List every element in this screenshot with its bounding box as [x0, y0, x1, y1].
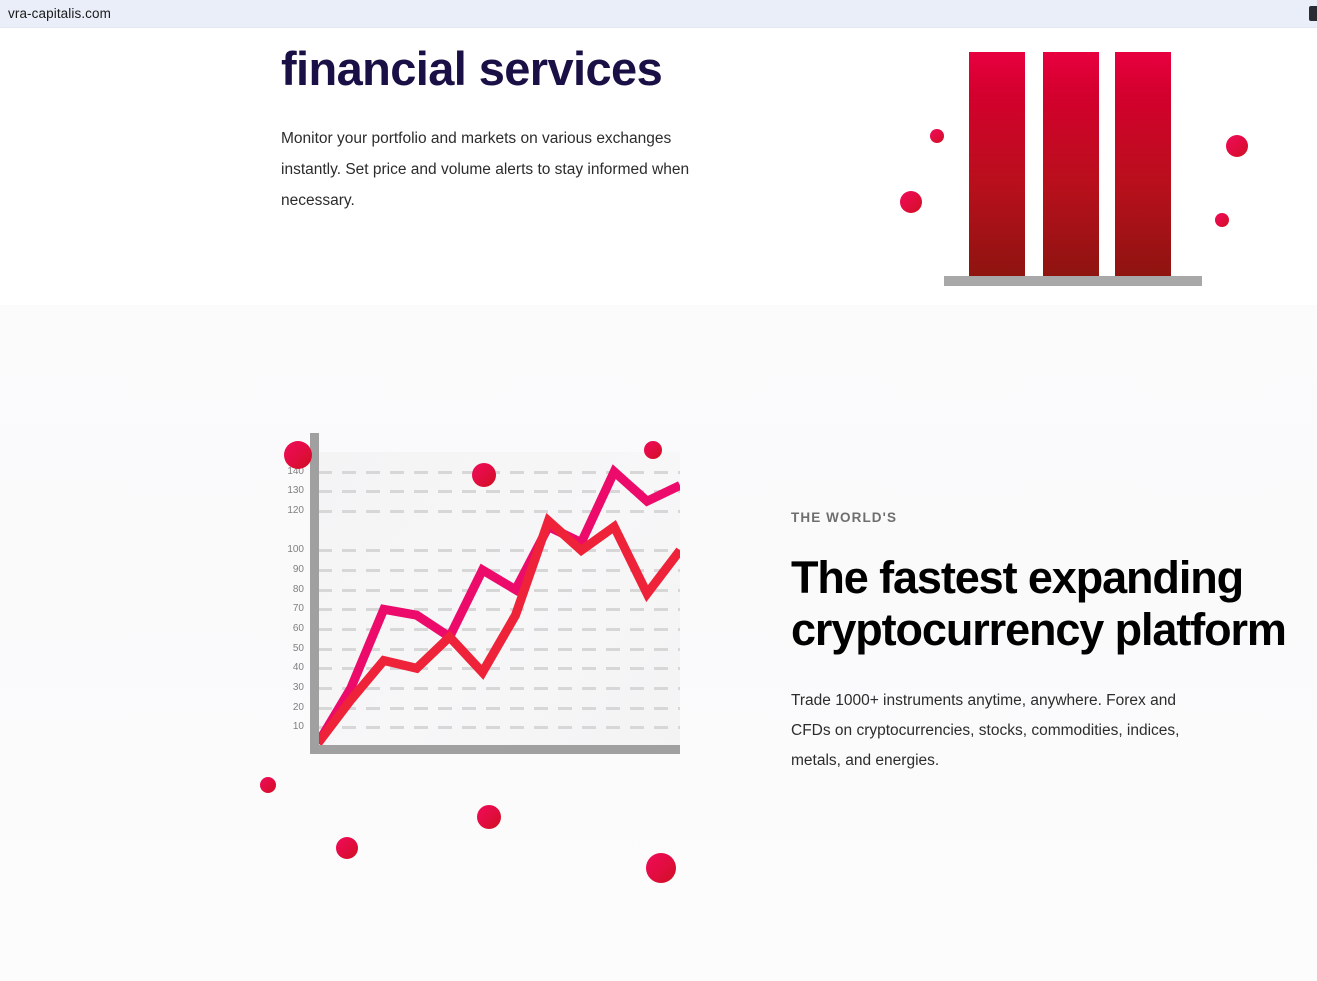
chart-y-tick-label: 80 — [274, 585, 304, 595]
bar-chart-illustration — [890, 28, 1260, 305]
browser-bar-right — [1309, 6, 1317, 21]
decorative-dot — [477, 805, 501, 829]
decorative-dot — [472, 463, 496, 487]
decorative-dot — [646, 853, 676, 883]
decorative-dot — [900, 191, 922, 213]
section-one-body: Monitor your portfolio and markets on va… — [281, 123, 691, 216]
chart-x-axis — [310, 745, 680, 754]
chart-series-svg — [318, 452, 680, 752]
section-two-body: Trade 1000+ instruments anytime, anywher… — [791, 686, 1191, 776]
browser-address-bar[interactable]: vra-capitalis.com — [0, 0, 1317, 28]
section-two-eyebrow: THE WORLD'S — [791, 510, 1311, 525]
chart-y-tick-label: 60 — [274, 624, 304, 634]
decorative-dot — [336, 837, 358, 859]
chart-y-tick-label: 10 — [274, 722, 304, 732]
page-root: vra-capitalis.com financial services Mon… — [0, 0, 1317, 981]
chart-y-tick-label: 70 — [274, 604, 304, 614]
illustration-baseline — [944, 276, 1202, 286]
chart-y-tick-label: 130 — [274, 486, 304, 496]
chart-y-tick-label: 90 — [274, 565, 304, 575]
decorative-dot — [930, 129, 944, 143]
decorative-dot — [284, 441, 312, 469]
section-two-heading: The fastest expanding cryptocurrency pla… — [791, 552, 1311, 656]
chart-y-axis — [310, 433, 319, 753]
decorative-dot — [1215, 213, 1229, 227]
url-text[interactable]: vra-capitalis.com — [0, 6, 111, 21]
chart-y-tick-label: 120 — [274, 506, 304, 516]
chart-line-magenta-line — [318, 472, 680, 743]
panel-edge-icon[interactable] — [1309, 6, 1317, 21]
section-financial-services: financial services Monitor your portfoli… — [0, 28, 1317, 305]
decorative-dot — [644, 441, 662, 459]
section-crypto-platform: 140130120100908070605040302010 THE WORLD… — [0, 305, 1317, 981]
chart-y-tick-label: 30 — [274, 683, 304, 693]
section-one-heading: financial services — [281, 44, 881, 93]
illustration-bar-1 — [969, 52, 1025, 277]
chart-y-tick-label: 20 — [274, 703, 304, 713]
decorative-dot — [1226, 135, 1248, 157]
illustration-bar-2 — [1043, 52, 1099, 277]
chart-y-tick-label: 50 — [274, 644, 304, 654]
chart-y-tick-label: 40 — [274, 663, 304, 673]
chart-y-tick-label: 100 — [274, 545, 304, 555]
illustration-bar-3 — [1115, 52, 1171, 277]
section-two-copy: THE WORLD'S The fastest expanding crypto… — [791, 510, 1311, 776]
decorative-dot — [260, 777, 276, 793]
